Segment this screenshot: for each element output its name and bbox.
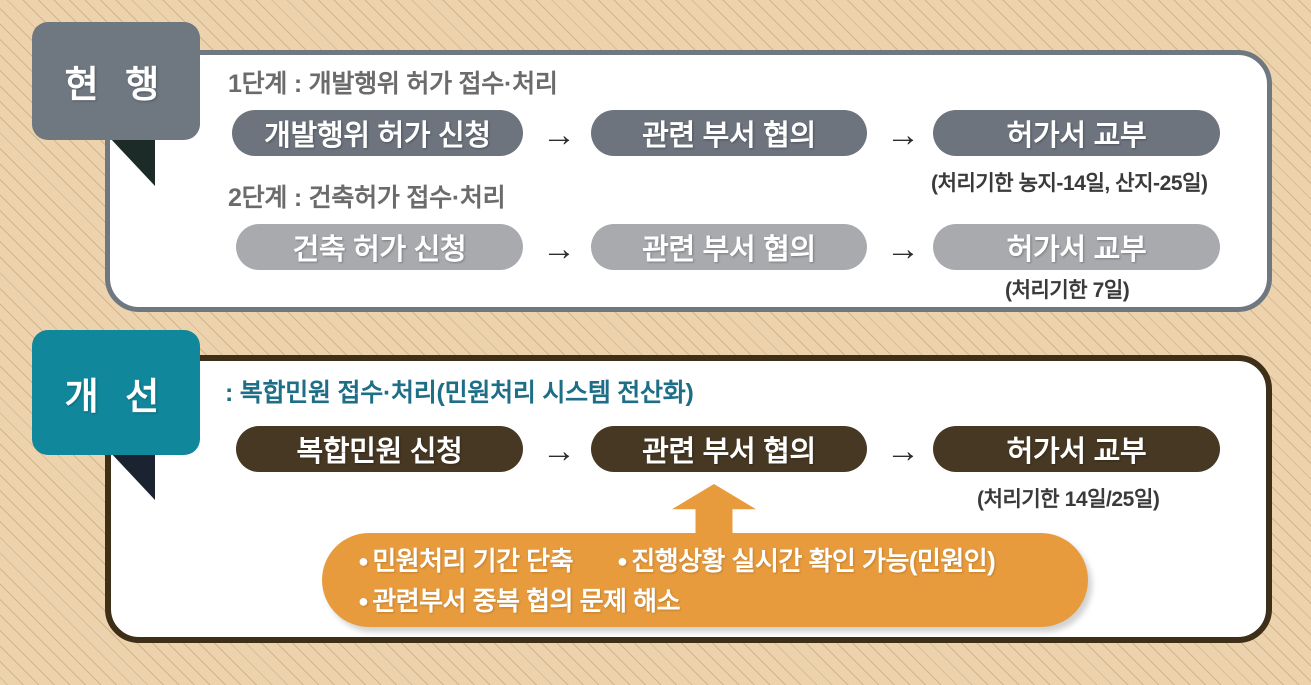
- pill-department-consultation-stage1: 관련 부서 협의: [591, 110, 867, 156]
- stage2-heading: 2단계 : 건축허가 접수·처리: [228, 178, 505, 214]
- stage2-deadline-note: (처리기한 7일): [1005, 274, 1129, 304]
- bullet-icon: ●: [358, 552, 368, 570]
- benefits-line-1: ● 민원처리 기간 단축 ● 진행상황 실시간 확인 가능(민원인): [358, 541, 1088, 581]
- improved-tab-fold-shadow: [110, 452, 155, 500]
- bullet-icon: ●: [358, 592, 368, 610]
- current-tab-fold-shadow: [110, 138, 155, 186]
- flow-arrow-icon: →: [886, 434, 920, 468]
- pill-development-permit-application: 개발행위 허가 신청: [232, 110, 523, 156]
- benefit-item-shortened-period: 민원처리 기간 단축: [372, 541, 573, 581]
- pill-building-permit-application: 건축 허가 신청: [236, 224, 523, 270]
- flow-arrow-icon: →: [886, 232, 920, 266]
- benefits-callout: ● 민원처리 기간 단축 ● 진행상황 실시간 확인 가능(민원인) ● 관련부…: [322, 533, 1088, 627]
- current-section-tab: 현 행: [32, 22, 200, 140]
- benefit-item-realtime-status: 진행상황 실시간 확인 가능(민원인): [631, 541, 995, 581]
- improved-section-tab: 개 선: [32, 330, 200, 455]
- benefits-line-2: ● 관련부서 중복 협의 문제 해소: [358, 581, 1088, 621]
- stage1-deadline-note: (처리기한 농지-14일, 산지-25일): [931, 167, 1208, 197]
- pill-complex-civil-application: 복합민원 신청: [236, 426, 523, 472]
- bullet-icon: ●: [617, 552, 627, 570]
- pill-permit-issuance-stage2: 허가서 교부: [933, 224, 1220, 270]
- pill-permit-issuance-improved: 허가서 교부: [933, 426, 1220, 472]
- improved-deadline-note: (처리기한 14일/25일): [977, 483, 1159, 513]
- pill-department-consultation-improved: 관련 부서 협의: [591, 426, 867, 472]
- benefit-item-duplicate-consultation: 관련부서 중복 협의 문제 해소: [372, 581, 680, 621]
- flow-arrow-icon: →: [542, 118, 576, 152]
- improved-heading: : 복합민원 접수·처리(민원처리 시스템 전산화): [225, 373, 694, 409]
- flow-arrow-icon: →: [542, 232, 576, 266]
- pill-department-consultation-stage2: 관련 부서 협의: [591, 224, 867, 270]
- flow-arrow-icon: →: [542, 434, 576, 468]
- flow-arrow-icon: →: [886, 118, 920, 152]
- pill-permit-issuance-stage1: 허가서 교부: [933, 110, 1220, 156]
- stage1-heading: 1단계 : 개발행위 허가 접수·처리: [228, 64, 558, 100]
